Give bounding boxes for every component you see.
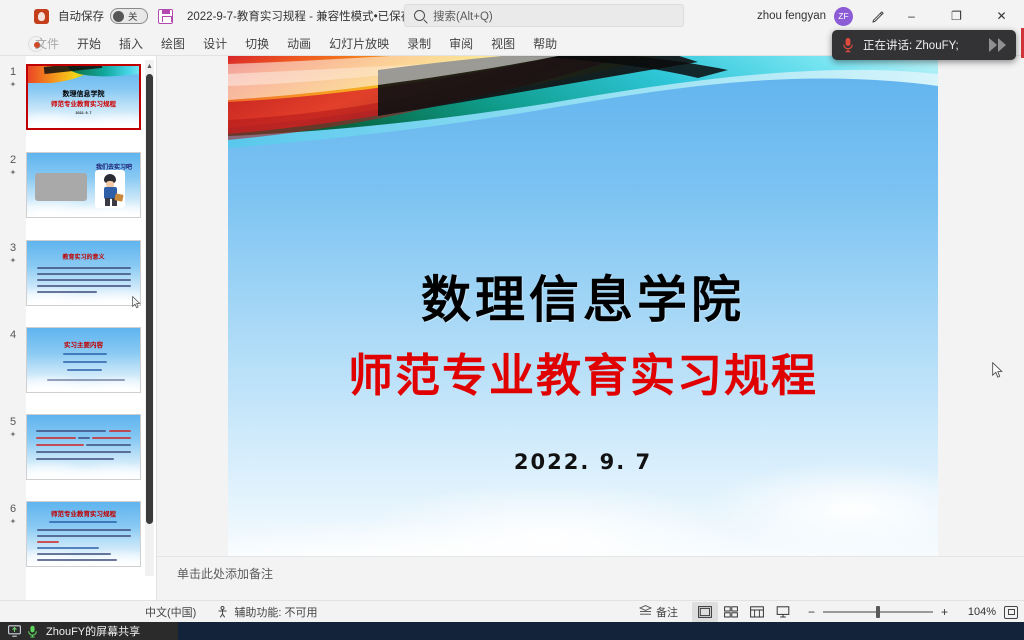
view-reading-button[interactable]	[744, 602, 770, 622]
tab-home[interactable]: 开始	[68, 32, 110, 56]
minimize-button[interactable]: –	[889, 0, 934, 32]
thumb1-subtitle: 师范专业教育实习规程	[28, 98, 139, 108]
notes-label: 备注	[656, 604, 678, 620]
cartoon-student-icon	[95, 170, 125, 208]
tab-transitions[interactable]: 切换	[236, 32, 278, 56]
thumb3-title: 教育实习的意义	[27, 252, 140, 261]
scroll-up-icon[interactable]: ▲	[145, 60, 154, 72]
autosave-state: 关	[128, 9, 138, 23]
speaking-text: 正在讲话: ZhouFY;	[863, 37, 959, 53]
language-label: 中文(中国)	[145, 604, 196, 620]
tab-slideshow[interactable]: 幻灯片放映	[320, 32, 398, 56]
microphone-icon	[842, 37, 854, 53]
pen-ink-icon[interactable]	[867, 0, 889, 32]
statusbar-right-group: 备注 − +	[639, 601, 1018, 623]
screen-share-indicator[interactable]: ZhouFY的屏幕共享	[0, 622, 178, 640]
zoom-control[interactable]: − +	[806, 605, 950, 619]
title-bar: 自动保存 关 2022-9-7-教育实习规程 - 兼容性模式•已保存到这台电脑 …	[0, 0, 1024, 32]
tab-draw[interactable]: 绘图	[152, 32, 194, 56]
status-bar: 中文(中国) 辅助功能: 不可用 备注	[0, 600, 1024, 622]
thumb2-placeholder-image	[35, 173, 87, 201]
slide-thumbnail-1[interactable]: 1✦ 数理信息学院 师范专业教育实习规程 2022. 9. 7	[0, 64, 156, 130]
accessibility-label: 辅助功能: 不可用	[234, 604, 317, 620]
slide-thumbnail-6[interactable]: 6✦ 师范专业教育实习规程	[0, 501, 156, 567]
search-input[interactable]: 搜索(Alt+Q)	[404, 4, 684, 27]
tab-file[interactable]: 文件	[26, 32, 68, 56]
fit-to-window-icon[interactable]	[1004, 606, 1018, 619]
tab-record[interactable]: 录制	[398, 32, 440, 56]
mouse-cursor-main	[992, 362, 1003, 379]
tab-review[interactable]: 审阅	[440, 32, 482, 56]
zoom-slider[interactable]	[823, 611, 933, 613]
slide-preview-5[interactable]	[26, 414, 141, 480]
slide-preview-6[interactable]: 师范专业教育实习规程	[26, 501, 141, 567]
titlebar-right-group: zhou fengyan ZF – ❐ ✕	[757, 0, 1024, 32]
toggle-knob	[113, 11, 124, 22]
tab-animations[interactable]: 动画	[278, 32, 320, 56]
slide-preview-4[interactable]: 实习主要内容	[26, 327, 141, 393]
view-normal-button[interactable]	[692, 602, 718, 622]
autosave-toggle[interactable]: 关	[110, 8, 148, 24]
slide-number-4: 4	[0, 327, 26, 342]
save-icon[interactable]	[158, 9, 173, 24]
thumb4-title: 实习主要内容	[27, 339, 140, 349]
accessibility-indicator[interactable]: 辅助功能: 不可用	[216, 604, 317, 620]
tab-insert[interactable]: 插入	[110, 32, 152, 56]
language-indicator[interactable]: 中文(中国)	[145, 604, 196, 620]
close-button[interactable]: ✕	[979, 0, 1024, 32]
editor-body: 1✦ 数理信息学院 师范专业教育实习规程 2022. 9. 7	[0, 56, 1024, 600]
zoom-level-label[interactable]: 104%	[960, 606, 996, 618]
zoom-in-button[interactable]: +	[939, 605, 950, 619]
search-placeholder: 搜索(Alt+Q)	[433, 8, 493, 24]
powerpoint-window: 自动保存 关 2022-9-7-教育实习规程 - 兼容性模式•已保存到这台电脑 …	[0, 0, 1024, 622]
active-slide[interactable]: 数理信息学院 师范专业教育实习规程 2022. 9. 7	[228, 56, 938, 583]
slide-number-2: 2✦	[0, 152, 26, 177]
rainbow-banner-icon	[28, 66, 139, 83]
thumbnail-scrollbar[interactable]: ▲	[145, 60, 154, 576]
slide-subtitle[interactable]: 师范专业教育实习规程	[228, 339, 938, 404]
slide-date[interactable]: 2022. 9. 7	[228, 450, 938, 474]
slide-title[interactable]: 数理信息学院	[228, 260, 938, 332]
desktop-background: 自动保存 关 2022-9-7-教育实习规程 - 兼容性模式•已保存到这台电脑 …	[0, 0, 1024, 640]
slide-number-1: 1✦	[0, 64, 26, 89]
tab-help[interactable]: 帮助	[524, 32, 566, 56]
notes-icon	[639, 605, 652, 619]
star-icon: ✦	[0, 256, 26, 265]
tab-view[interactable]: 视图	[482, 32, 524, 56]
tab-design[interactable]: 设计	[194, 32, 236, 56]
accessibility-icon	[216, 606, 229, 618]
autosave-label: 自动保存	[58, 8, 104, 24]
speaking-notification[interactable]: 正在讲话: ZhouFY;	[832, 30, 1016, 60]
thumb6-title: 师范专业教育实习规程	[27, 508, 140, 518]
slide-number-3: 3✦	[0, 240, 26, 265]
notes-placeholder: 单击此处添加备注	[177, 565, 273, 582]
account-name[interactable]: zhou fengyan	[757, 10, 826, 22]
thumb1-date: 2022. 9. 7	[28, 111, 139, 115]
slide-thumbnail-2[interactable]: 2✦ 我们去实习吧	[0, 152, 156, 218]
slide-number-5: 5✦	[0, 414, 26, 439]
zoom-slider-handle[interactable]	[876, 606, 880, 618]
mouse-cursor-thumbnails	[132, 296, 141, 309]
search-icon	[414, 10, 425, 21]
slide-thumbnail-4[interactable]: 4 实习主要内容	[0, 327, 156, 393]
slide-number-6: 6✦	[0, 501, 26, 526]
notes-toggle-button[interactable]: 备注	[639, 604, 678, 620]
slide-preview-1[interactable]: 数理信息学院 师范专业教育实习规程 2022. 9. 7	[26, 64, 141, 130]
star-icon: ✦	[0, 168, 26, 177]
notes-pane[interactable]: 单击此处添加备注	[157, 556, 1024, 600]
screen-share-icon	[8, 625, 21, 637]
powerpoint-icon	[34, 9, 49, 24]
share-label: ZhouFY的屏幕共享	[46, 623, 140, 639]
zoom-out-button[interactable]: −	[806, 605, 817, 619]
slide-stage: 数理信息学院 师范专业教育实习规程 2022. 9. 7 单击此处添加备注	[157, 56, 1024, 600]
slide-thumbnail-5[interactable]: 5✦	[0, 414, 156, 480]
slide-preview-3[interactable]: 教育实习的意义	[26, 240, 141, 306]
star-icon: ✦	[0, 80, 26, 89]
scrollbar-thumb[interactable]	[146, 74, 153, 524]
restore-button[interactable]: ❐	[934, 0, 979, 32]
view-slide-sorter-button[interactable]	[718, 602, 744, 622]
star-icon: ✦	[0, 430, 26, 439]
avatar[interactable]: ZF	[834, 7, 853, 26]
document-name: 2022-9-7-教育实习规程	[187, 11, 306, 23]
slide-thumbnail-pane[interactable]: 1✦ 数理信息学院 师范专业教育实习规程 2022. 9. 7	[0, 56, 157, 600]
microphone-icon	[27, 625, 40, 637]
chevron-double-icon[interactable]	[989, 38, 1006, 52]
slide-preview-2[interactable]: 我们去实习吧	[26, 152, 141, 218]
star-icon: ✦	[0, 517, 26, 526]
view-slideshow-button[interactable]	[770, 602, 796, 622]
rainbow-wave-decoration	[228, 56, 938, 166]
